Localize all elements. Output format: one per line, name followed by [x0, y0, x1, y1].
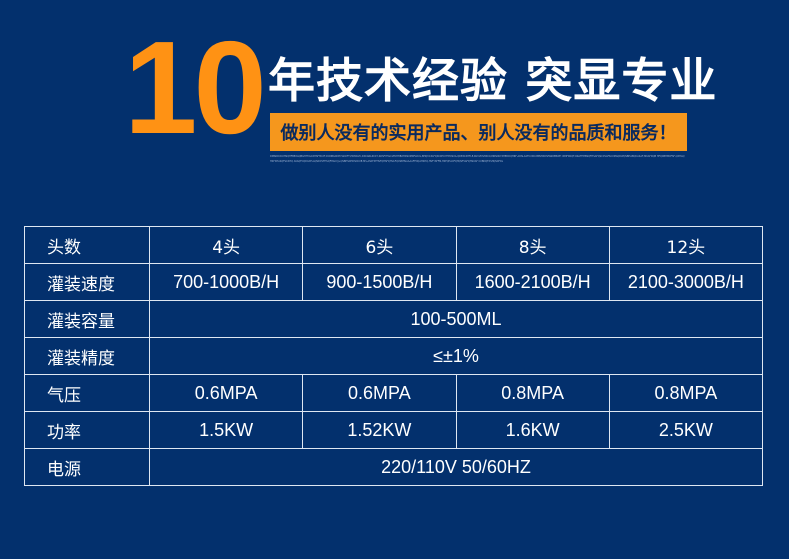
- subhead-text: 做别人没有的实用产品、别人没有的品质和服务！: [281, 119, 677, 145]
- row-label: 气压: [25, 375, 150, 412]
- table-cell: 700-1000B/H: [150, 264, 303, 301]
- subhead-banner: 做别人没有的实用产品、别人没有的品质和服务！: [270, 113, 687, 151]
- table-row: 气压0.6MPA0.6MPA0.8MPA0.8MPA: [25, 375, 763, 412]
- row-label: 功率: [25, 412, 150, 449]
- micro-filler-text: DMSDDXCXHSQHFBEXAQBGHHYGCXHSFHCXF,DXDBGX…: [270, 155, 685, 164]
- table-cell: 0.6MPA: [150, 375, 303, 412]
- table-cell: 2.5KW: [609, 412, 762, 449]
- table-row: 灌装容量100-500ML: [25, 301, 763, 338]
- row-merged-value: 100-500ML: [150, 301, 763, 338]
- table-cell: 12头: [609, 227, 762, 264]
- table-cell: 2100-3000B/H: [609, 264, 762, 301]
- row-label: 灌装精度: [25, 338, 150, 375]
- table-cell: 0.8MPA: [609, 375, 762, 412]
- spec-table: 头数4头6头8头12头灌装速度700-1000B/H900-1500B/H160…: [24, 226, 763, 486]
- hero-banner: 10 年技术经验 突显专业 做别人没有的实用产品、别人没有的品质和服务！ DMS…: [0, 0, 789, 200]
- table-cell: 1.5KW: [150, 412, 303, 449]
- row-merged-value: ≤±1%: [150, 338, 763, 375]
- table-row: 电源220/110V 50/60HZ: [25, 449, 763, 486]
- table-cell: 1600-2100B/H: [456, 264, 609, 301]
- years-number: 10: [124, 22, 263, 154]
- table-cell: 900-1500B/H: [303, 264, 456, 301]
- table-cell: 8头: [456, 227, 609, 264]
- row-label: 电源: [25, 449, 150, 486]
- table-row: 灌装速度700-1000B/H900-1500B/H1600-2100B/H21…: [25, 264, 763, 301]
- table-row: 头数4头6头8头12头: [25, 227, 763, 264]
- table-cell: 0.8MPA: [456, 375, 609, 412]
- table-row: 灌装精度≤±1%: [25, 338, 763, 375]
- row-merged-value: 220/110V 50/60HZ: [150, 449, 763, 486]
- spec-table-container: 头数4头6头8头12头灌装速度700-1000B/H900-1500B/H160…: [24, 226, 763, 486]
- table-cell: 0.6MPA: [303, 375, 456, 412]
- headline-text: 年技术经验 突显专业: [268, 56, 717, 108]
- table-cell: 6头: [303, 227, 456, 264]
- row-label: 灌装速度: [25, 264, 150, 301]
- spec-table-body: 头数4头6头8头12头灌装速度700-1000B/H900-1500B/H160…: [25, 227, 763, 486]
- row-label: 灌装容量: [25, 301, 150, 338]
- table-cell: 4头: [150, 227, 303, 264]
- table-row: 功率1.5KW1.52KW1.6KW2.5KW: [25, 412, 763, 449]
- table-cell: 1.6KW: [456, 412, 609, 449]
- row-label: 头数: [25, 227, 150, 264]
- table-cell: 1.52KW: [303, 412, 456, 449]
